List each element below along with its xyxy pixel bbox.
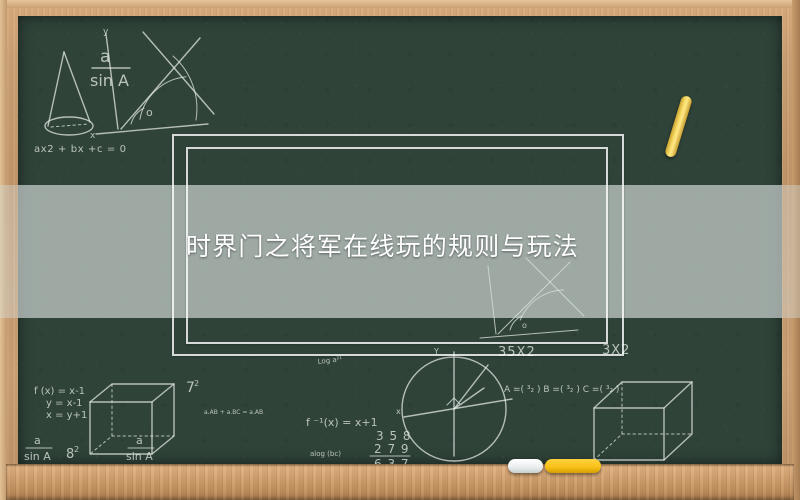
ratio-sin-left: sin A xyxy=(24,450,51,463)
eight-squared-exponent: 2 xyxy=(74,445,79,454)
digits-row-3: 6 3 7 xyxy=(374,457,410,464)
fx-line-1: f (x) = x-1 xyxy=(34,386,85,397)
ledge-shadow-lip xyxy=(6,464,794,467)
digits-row-2: 2 7 9 xyxy=(374,442,410,456)
chalk-ledge xyxy=(6,464,794,500)
frame-bevel-left xyxy=(0,0,7,500)
log-small-note: Log a²¹ xyxy=(317,355,343,366)
seven-squared-exponent: 2 xyxy=(194,379,199,388)
axis-x-label-bottomright: x xyxy=(396,407,401,416)
cone-figure xyxy=(45,52,93,135)
matrix-expression: A =( ³₂ ) B =( ³₂ ) C =( ³₂ ) xyxy=(504,385,619,395)
chalk-stick-white-ledge xyxy=(508,459,543,473)
law-of-sines-denominator: sin A xyxy=(90,71,129,90)
small-vector-equation: a.AB + a.BC = a.AB xyxy=(204,409,263,416)
frame-bevel-right xyxy=(792,0,800,500)
ratio-a-left: a xyxy=(34,434,41,447)
cube-wireframe-left xyxy=(90,384,174,454)
ratio-a-mid: a xyxy=(136,434,143,447)
axis-y-label-topleft: y xyxy=(103,27,109,37)
log-abc-note: alog (bc) xyxy=(310,450,341,458)
ratio-sin-mid: sin A xyxy=(126,450,153,463)
quadratic-equation: ax2 + bx +c = 0 xyxy=(34,144,127,155)
fx-line-2: y = x-1 xyxy=(46,398,83,409)
page-title: 时界门之将军在线玩的规则与玩法 xyxy=(186,232,616,262)
inverse-function: f ⁻¹(x) = x+1 xyxy=(306,416,378,429)
cube-wireframe-right xyxy=(594,382,692,460)
ledge-grain-texture xyxy=(6,464,794,500)
blackboard-banner: a sin A y x o ax2 + bx +c = 0 xyxy=(0,0,800,500)
fx-line-3: x = y+1 xyxy=(46,410,87,421)
frame-bevel-top xyxy=(0,0,800,8)
chalk-stick-yellow-ledge xyxy=(545,459,601,473)
angle-label-topleft: o xyxy=(146,106,153,119)
circle-sector-figure xyxy=(402,352,512,461)
axis-x-label-topleft: x xyxy=(90,131,96,141)
